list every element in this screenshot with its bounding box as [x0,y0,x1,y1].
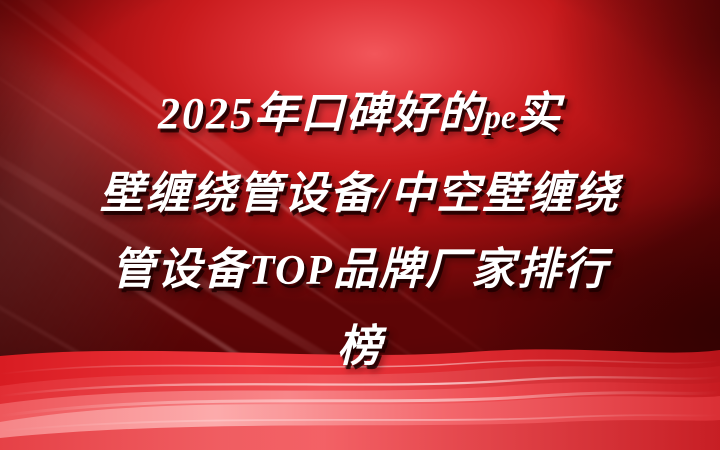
title-line-2: 壁缠绕管设备/中空壁缠绕 [0,156,720,232]
title-line-3-latin: TOP [249,248,333,294]
title-line-3-before: 管设备 [111,245,249,294]
title-line-3: 管设备TOP品牌厂家排行 [0,232,720,309]
banner-title: 2025年口碑好的pe实 壁缠绕管设备/中空壁缠绕 管设备TOP品牌厂家排行 榜 [0,76,720,385]
promo-banner: 2025年口碑好的pe实 壁缠绕管设备/中空壁缠绕 管设备TOP品牌厂家排行 榜 [0,0,720,450]
title-line-1-latin: pe [484,99,516,136]
title-line-1-after: 实 [516,89,562,138]
title-line-4: 榜 [0,309,720,385]
title-line-1: 2025年口碑好的pe实 [0,76,720,156]
title-line-1-before: 2025年口碑好的 [158,89,484,138]
title-line-3-after: 品牌厂家排行 [333,245,609,294]
